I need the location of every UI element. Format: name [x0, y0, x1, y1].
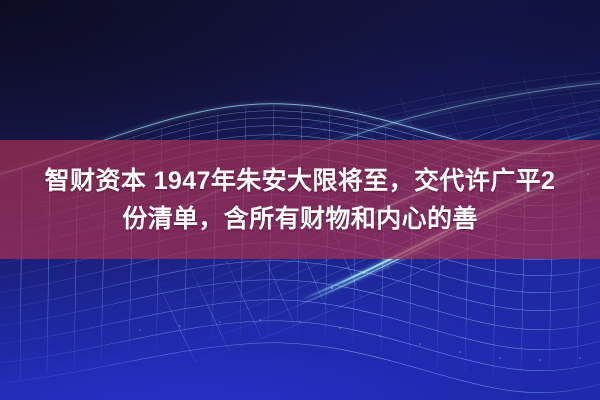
- headline-line-1: 智财资本 1947年朱安大限将至，交代许广平2: [45, 162, 556, 200]
- banner-image: 智财资本 1947年朱安大限将至，交代许广平2 份清单，含所有财物和内心的善: [0, 0, 600, 400]
- headline-line-2: 份清单，含所有财物和内心的善: [122, 200, 478, 238]
- headline-block: 智财资本 1947年朱安大限将至，交代许广平2 份清单，含所有财物和内心的善: [0, 140, 600, 259]
